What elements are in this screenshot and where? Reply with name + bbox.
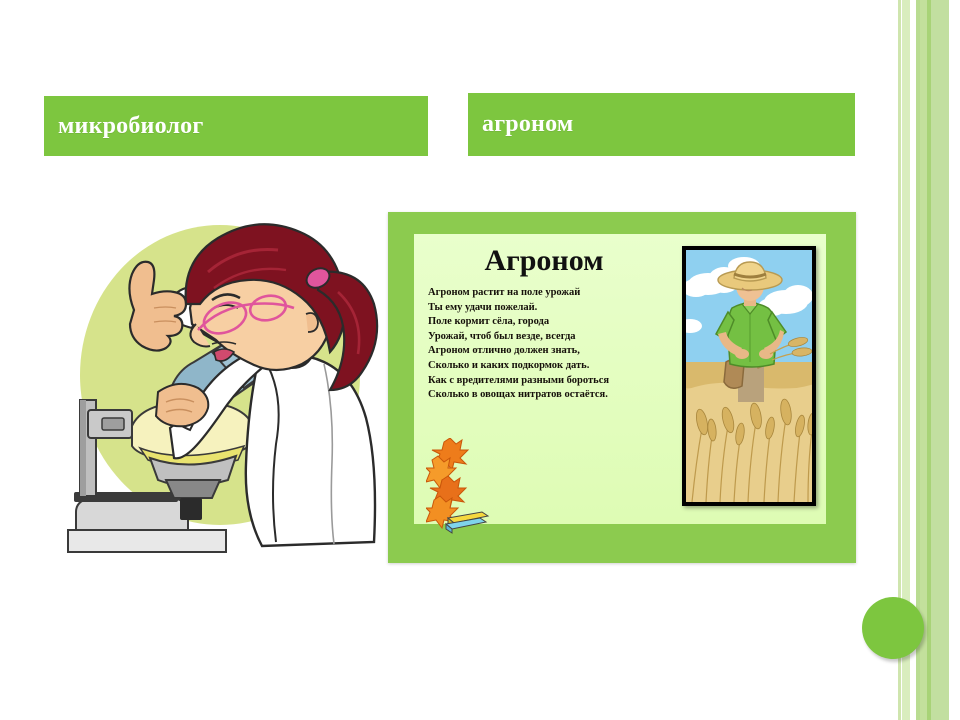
poem-text: Агроном растит на поле урожай Ты ему уда…	[428, 286, 664, 403]
heading-bar-agronomist[interactable]: агроном	[468, 93, 855, 156]
agronom-photo-frame	[682, 246, 816, 506]
agronom-photo-svg	[686, 250, 812, 502]
agronom-card-panel: Агроном Агроном растит на поле урожай Ты…	[414, 234, 826, 524]
heading-label-microbiologist: микробиолог	[44, 113, 203, 140]
heading-bar-microbiologist[interactable]: микробиолог	[44, 96, 428, 156]
poem-line: Урожай, чтоб был везде, всегда	[428, 330, 664, 345]
slide-canvas: микробиолог агроном	[0, 0, 960, 720]
microbiologist-svg	[62, 212, 382, 570]
poem-line: Сколько в овощах нитратов остаётся.	[428, 388, 664, 403]
poem-line: Агроном растит на поле урожай	[428, 286, 664, 301]
heading-label-agronomist: агроном	[468, 111, 573, 138]
agronom-photo	[686, 250, 812, 502]
poem-line: Сколько и каких подкормок дать.	[428, 359, 664, 374]
poem-line: Поле кормит сёла, города	[428, 315, 664, 330]
edge-stripe	[931, 0, 949, 720]
decorative-green-circle	[862, 597, 924, 659]
edge-stripe	[920, 0, 927, 720]
microbiologist-illustration	[62, 212, 382, 570]
poem-line: Ты ему удачи пожелай.	[428, 301, 664, 316]
poem-line: Как с вредителями разными бороться	[428, 374, 664, 389]
poem-title: Агроном	[430, 244, 658, 278]
leaves-books-svg	[426, 438, 490, 534]
agronom-card[interactable]: Агроном Агроном растит на поле урожай Ты…	[388, 212, 856, 563]
autumn-leaves-books-decoration	[426, 438, 490, 534]
poem-line: Агроном отлично должен знать,	[428, 344, 664, 359]
